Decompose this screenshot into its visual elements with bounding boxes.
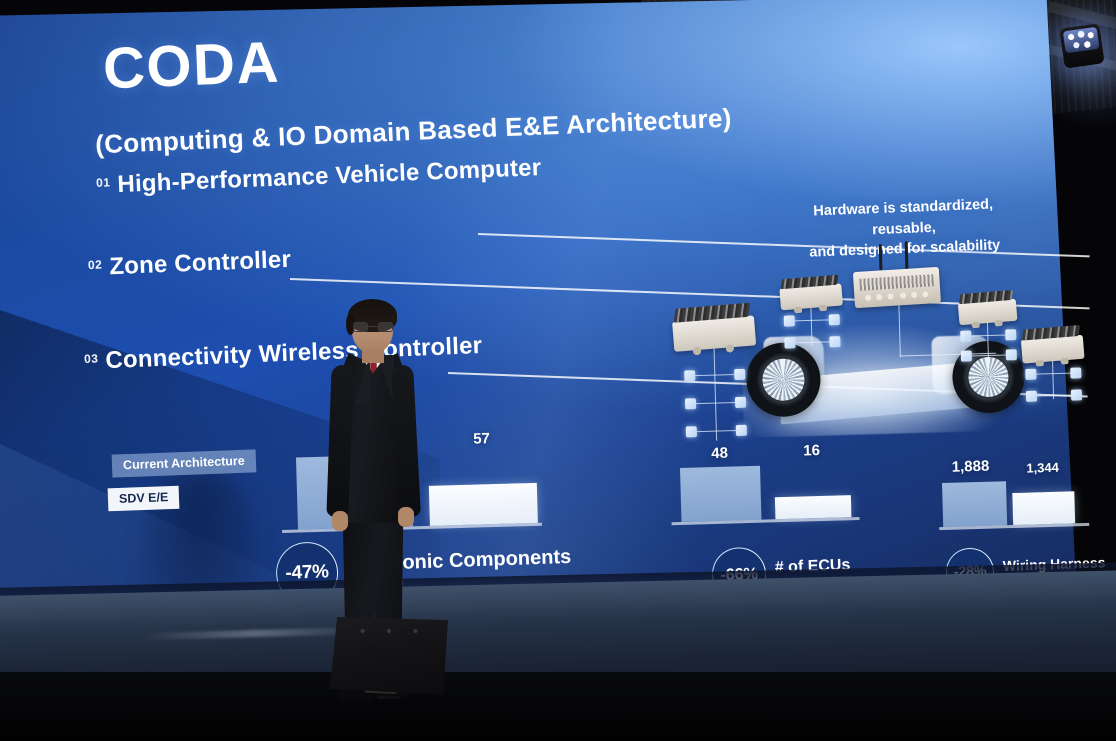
net-node [736, 425, 747, 436]
bar-value-current: 1,888 [935, 457, 1005, 476]
net-node [685, 398, 696, 409]
legend-current-architecture: Current Architecture [112, 449, 257, 477]
net-node [1026, 391, 1037, 402]
net-node [686, 426, 697, 437]
stage-scene: CODA (Computing & IO Domain Based E&E Ar… [0, 0, 1116, 741]
presenter-hand-left [332, 511, 348, 531]
bullet-item-02: 02Zone Controller [88, 246, 292, 282]
net-node [784, 315, 795, 326]
legend-sdv-ee: SDV E/E [108, 486, 180, 512]
bullet-number: 01 [96, 175, 111, 190]
bar-sdv-ee [775, 495, 852, 519]
presenter-hand-right [398, 507, 414, 527]
bar-current-architecture [942, 481, 1007, 527]
bar-sdv-ee [1012, 491, 1075, 525]
net-node [960, 330, 971, 341]
module-connector-block [1022, 325, 1080, 341]
net-node [734, 369, 745, 380]
net-node [829, 336, 840, 347]
bullet-number: 02 [88, 257, 103, 272]
bullet-item-01: 01High-Performance Vehicle Computer [96, 154, 542, 200]
chart-wiring-harness: 1,888 1,344 [942, 479, 1089, 533]
glasses-icon [353, 322, 393, 332]
zone-controller-module-top-left [779, 283, 843, 310]
bar-sdv-ee [429, 483, 538, 526]
module-ports [682, 343, 748, 356]
net-node [1006, 349, 1017, 360]
page-subtitle: (Computing & IO Domain Based E&E Archite… [95, 103, 733, 161]
bar-value-current: 48 [679, 444, 759, 463]
bar-current-architecture [680, 466, 761, 522]
bar-value-sdv: 1,344 [1011, 459, 1073, 476]
zone-controller-module-top-right [958, 299, 1018, 326]
net-trunk-left [714, 349, 718, 441]
zone-controller-module-front-left [672, 315, 756, 351]
wheel-spokes [968, 356, 1009, 397]
module-connector-block [781, 274, 839, 289]
high-performance-vehicle-computer-module [853, 267, 941, 308]
foreground-dark-area [0, 672, 1116, 741]
bar-value-sdv: 16 [773, 441, 849, 460]
net-node [961, 350, 972, 361]
net-trunk-rear [1052, 361, 1054, 399]
bullet-label: Zone Controller [109, 246, 292, 280]
page-title: CODA [102, 29, 281, 103]
chart-bars [942, 479, 1089, 527]
net-node [1025, 369, 1036, 380]
zone-controller-module-rear-right [1021, 335, 1085, 364]
net-node [829, 314, 840, 325]
net-node [735, 397, 746, 408]
module-ports [787, 304, 837, 314]
stage-monitor-speaker [330, 617, 448, 695]
module-connector-block [959, 290, 1014, 305]
net-node [1070, 367, 1081, 378]
bullet-label: High-Performance Vehicle Computer [117, 154, 542, 198]
module-connector-block [674, 303, 751, 323]
chart-bars [678, 463, 859, 522]
net-node [1005, 329, 1016, 340]
module-ports [1029, 357, 1079, 367]
vehicle-architecture-diagram [657, 256, 1102, 468]
chart-ecus: 48 16 [678, 463, 860, 530]
bullet-number: 03 [84, 351, 99, 366]
net-node [684, 370, 695, 381]
bar-value-sdv: 57 [427, 429, 535, 449]
net-node [1071, 389, 1082, 400]
net-node [784, 337, 795, 348]
wheel-spokes [762, 358, 805, 401]
